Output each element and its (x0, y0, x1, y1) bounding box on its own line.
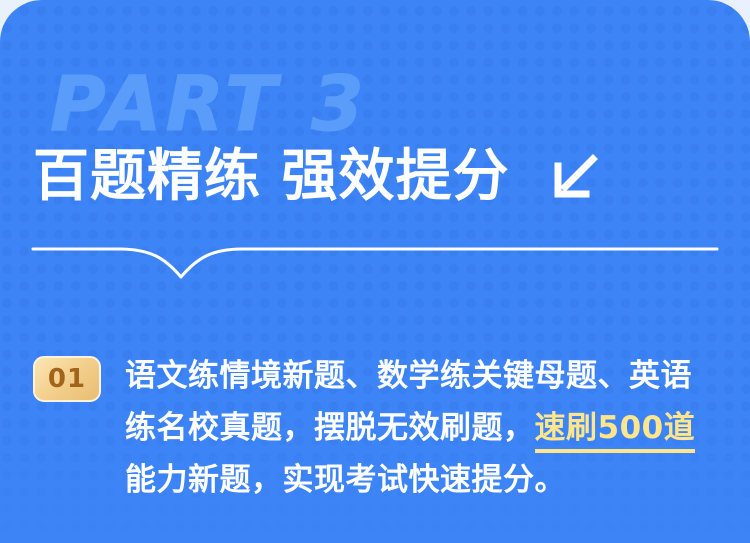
blue-panel: PART 3 百题精练 强效提分 01 语文练情境新题、数学练关键母题、英语练名… (0, 0, 750, 543)
item-number-badge: 01 (33, 356, 101, 402)
item-description-part-1: 语文练情境新题、数学练关键母题、英语 (125, 358, 692, 394)
item-description-highlight: 速刷500道 (535, 410, 696, 453)
part-watermark-text: PART 3 (50, 66, 368, 142)
arrow-down-left-icon (552, 154, 598, 200)
item-description-part-3: 能力新题，实现考试快速提分。 (125, 462, 566, 498)
promo-poster: PART 3 百题精练 强效提分 01 语文练情境新题、数学练关键母题、英语练名… (0, 0, 750, 543)
divider-with-notch (0, 238, 750, 286)
page-title: 百题精练 强效提分 (33, 149, 510, 205)
headline-row: 百题精练 强效提分 (33, 141, 598, 213)
item-description-part-2: 练名校真题，摆脱无效刷题， (125, 410, 535, 446)
item-description: 语文练情境新题、数学练关键母题、英语练名校真题，摆脱无效刷题，速刷500道能力新… (125, 350, 723, 506)
feature-item-01: 01 语文练情境新题、数学练关键母题、英语练名校真题，摆脱无效刷题，速刷500道… (33, 350, 723, 506)
